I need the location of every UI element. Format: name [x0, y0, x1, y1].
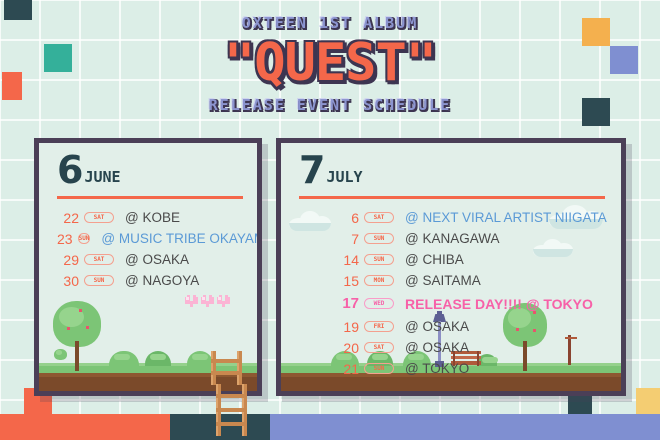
schedule-row: 6SAT@ NEXT VIRAL ARTIST NIIGATA	[281, 207, 621, 228]
event-day: 15	[337, 273, 359, 289]
month-name-july: JULY	[326, 168, 362, 186]
ladder-icon	[216, 384, 252, 436]
month-number-june: 6	[57, 153, 81, 187]
schedule-row: 14SUN@ CHIBA	[281, 249, 621, 270]
heart-icon	[201, 295, 214, 307]
month-number-july: 7	[299, 153, 323, 187]
event-venue: @ OSAKA	[405, 340, 469, 355]
event-day: 22	[57, 210, 79, 226]
event-weekday-badge: SUN	[364, 363, 394, 374]
event-venue: RELEASE DAY!!!! @ TOKYO	[405, 296, 593, 312]
event-weekday-badge: FRI	[364, 321, 394, 332]
schedule-row: 15MON@ SAITAMA	[281, 270, 621, 291]
event-weekday-badge: SAT	[84, 212, 114, 223]
schedule-row: 7SUN@ KANAGAWA	[281, 228, 621, 249]
event-venue: @ KOBE	[125, 210, 180, 225]
schedule-subtitle: RELEASE EVENT SCHEDULE	[0, 96, 660, 114]
event-weekday-badge: MON	[364, 275, 394, 286]
month-name-june: JUNE	[84, 168, 120, 186]
event-venue: @ CHIBA	[405, 252, 464, 267]
event-day: 7	[337, 231, 359, 247]
event-day: 20	[337, 340, 359, 356]
schedule-row: 19FRI@ OSAKA	[281, 316, 621, 337]
event-venue: @ SAITAMA	[405, 273, 481, 288]
event-venue: @ KANAGAWA	[405, 231, 499, 246]
event-weekday-badge: SUN	[364, 254, 394, 265]
event-weekday-badge: WED	[364, 298, 394, 309]
schedule-row: 17WEDRELEASE DAY!!!! @ TOKYO	[281, 291, 621, 316]
page-title: "QUEST"	[0, 34, 660, 92]
month-card-july: 7 JULY 6SAT@ NEXT VIRAL ARTIST NIIGATA7S…	[276, 138, 626, 396]
album-subtitle: OXTEEN 1ST ALBUM	[0, 14, 660, 32]
event-venue: @ OSAKA	[405, 319, 469, 334]
schedule-row: 29SAT@ OSAKA	[39, 249, 257, 270]
event-weekday-badge: SAT	[364, 342, 394, 353]
fence-icon	[211, 351, 245, 385]
event-weekday-badge: SAT	[84, 254, 114, 265]
event-weekday-badge: SUN	[364, 233, 394, 244]
heart-icon	[217, 295, 230, 307]
event-day: 6	[337, 210, 359, 226]
bar-blue	[270, 414, 660, 440]
bush-icon	[145, 351, 171, 366]
month-header-june: 6 JUNE	[39, 143, 257, 187]
bar-orange	[0, 414, 170, 440]
bush-icon	[109, 351, 139, 366]
event-weekday-badge: SUN	[78, 233, 91, 244]
event-day: 23	[57, 231, 73, 247]
month-card-june: 6 JUNE 22SAT@ KOBE23SUN@ MUSIC TRIBE OKA…	[34, 138, 262, 396]
tree-icon	[53, 301, 105, 371]
event-day: 19	[337, 319, 359, 335]
event-venue: @ NAGOYA	[125, 273, 199, 288]
schedule-row: 20SAT@ OSAKA	[281, 337, 621, 358]
event-day: 17	[337, 295, 359, 312]
event-day: 14	[337, 252, 359, 268]
event-venue: @ OSAKA	[125, 252, 189, 267]
event-weekday-badge: SAT	[364, 212, 394, 223]
event-day: 30	[57, 273, 79, 289]
event-venue: @ MUSIC TRIBE OKAYAMA	[101, 231, 262, 246]
square-yellow-right	[636, 388, 660, 416]
schedule-list-july: 6SAT@ NEXT VIRAL ARTIST NIIGATA7SUN@ KAN…	[281, 199, 621, 379]
poster-title-block: OXTEEN 1ST ALBUM "QUEST" RELEASE EVENT S…	[0, 14, 660, 114]
schedule-row: 30SUN@ NAGOYA	[39, 270, 257, 291]
bush-icon	[187, 351, 213, 366]
schedule-list-june: 22SAT@ KOBE23SUN@ MUSIC TRIBE OKAYAMA29S…	[39, 199, 257, 291]
event-venue: @ NEXT VIRAL ARTIST NIIGATA	[405, 210, 607, 225]
event-weekday-badge: SUN	[84, 275, 114, 286]
schedule-row: 22SAT@ KOBE	[39, 207, 257, 228]
event-venue: @ TOKYO	[405, 361, 469, 376]
event-day: 21	[337, 361, 359, 377]
month-header-july: 7 JULY	[281, 143, 621, 187]
heart-icon	[185, 295, 198, 307]
schedule-row: 23SUN@ MUSIC TRIBE OKAYAMA	[39, 228, 257, 249]
schedule-row: 21SUN@ TOKYO	[281, 358, 621, 379]
event-day: 29	[57, 252, 79, 268]
